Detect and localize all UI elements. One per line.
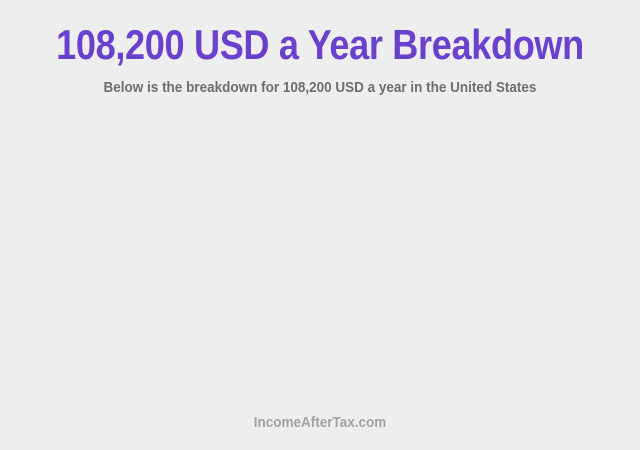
chart-area (0, 118, 640, 410)
page-subtitle: Below is the breakdown for 108,200 USD a… (32, 68, 608, 96)
page-footer: IncomeAfterTax.com (0, 410, 640, 450)
page-title: 108,200 USD a Year Breakdown (45, 0, 595, 68)
breakdown-page: 108,200 USD a Year Breakdown Below is th… (0, 0, 640, 450)
site-credit: IncomeAfterTax.com (32, 410, 608, 432)
page-header: 108,200 USD a Year Breakdown Below is th… (0, 0, 640, 96)
